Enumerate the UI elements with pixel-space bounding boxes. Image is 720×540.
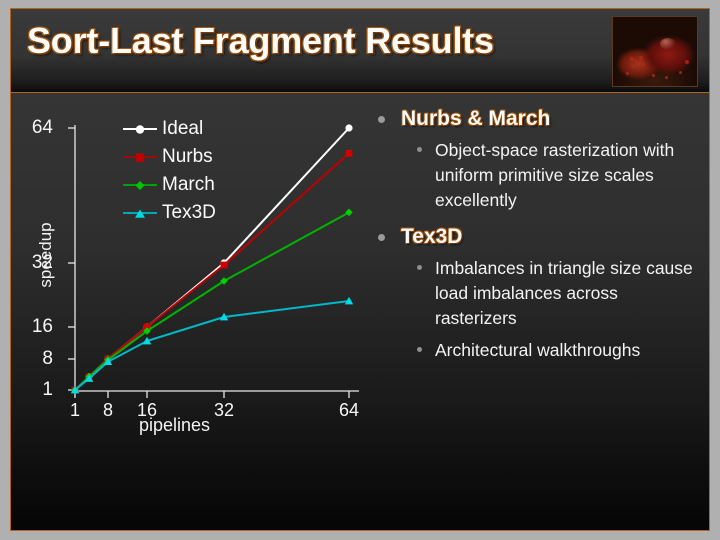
- legend-marker-nurbs: [123, 150, 157, 164]
- bullet-list: Nurbs & March Object-space rasterization…: [371, 101, 701, 375]
- bullet-item-0-0: Object-space rasterization with uniform …: [371, 138, 701, 213]
- bullet-group-0: Nurbs & March Object-space rasterization…: [371, 107, 701, 213]
- bullet-dot-icon: [378, 234, 385, 241]
- legend-label-tex3d: Tex3D: [162, 203, 216, 223]
- pomegranate-photo: [613, 17, 697, 86]
- header-decoration-image: [612, 16, 698, 87]
- legend-item-tex3d: Tex3D: [123, 199, 216, 227]
- chart-series-tex3d: [71, 297, 353, 394]
- bullet-heading-nurbs-march: Nurbs & March: [371, 107, 701, 131]
- title-band: Sort-Last Fragment Results: [11, 9, 709, 93]
- bullet-heading-text: Nurbs & March: [401, 107, 550, 130]
- slide-root: Sort-Last Fragment Results: [0, 0, 720, 540]
- slide-body: speedup pipelines 64 32 16 8 1 1 8 16 32…: [11, 93, 709, 530]
- legend-item-march: March: [123, 171, 216, 199]
- chart-legend: Ideal Nurbs March: [123, 115, 216, 227]
- legend-label-march: March: [162, 175, 215, 195]
- bullet-heading-text: Tex3D: [401, 225, 462, 248]
- bullet-heading-tex3d: Tex3D: [371, 225, 701, 249]
- chart-series-march: [71, 209, 353, 394]
- bullet-group-1: Tex3D Imbalances in triangle size cause …: [371, 225, 701, 363]
- bullet-item-1-1: Architectural walkthroughs: [371, 338, 701, 363]
- sub-bullet-dot-icon: [417, 265, 422, 270]
- legend-marker-march: [123, 178, 157, 192]
- bullet-item-text: Imbalances in triangle size cause load i…: [435, 258, 693, 328]
- legend-marker-ideal: [123, 122, 157, 136]
- sub-bullet-dot-icon: [417, 347, 422, 352]
- sub-bullet-dot-icon: [417, 147, 422, 152]
- legend-item-nurbs: Nurbs: [123, 143, 216, 171]
- slide-frame: Sort-Last Fragment Results: [10, 8, 710, 531]
- bullet-item-1-0: Imbalances in triangle size cause load i…: [371, 256, 701, 331]
- bullet-item-text: Architectural walkthroughs: [435, 340, 640, 360]
- legend-item-ideal: Ideal: [123, 115, 216, 143]
- legend-label-ideal: Ideal: [162, 119, 203, 139]
- bullet-item-text: Object-space rasterization with uniform …: [435, 140, 674, 210]
- bullet-dot-icon: [378, 116, 385, 123]
- speedup-chart: speedup pipelines 64 32 16 8 1 1 8 16 32…: [19, 95, 367, 455]
- legend-marker-tex3d: [123, 206, 157, 220]
- page-title: Sort-Last Fragment Results: [27, 20, 494, 62]
- legend-label-nurbs: Nurbs: [162, 147, 213, 167]
